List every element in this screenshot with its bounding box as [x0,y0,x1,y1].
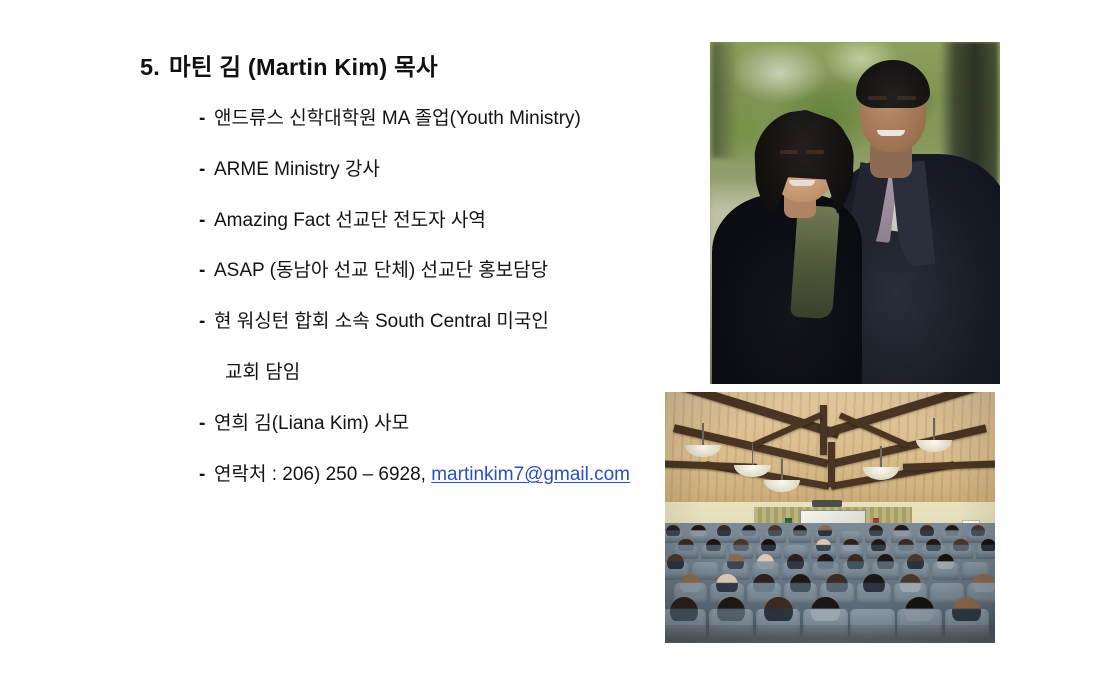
audience-member [971,525,985,535]
audience-member [818,525,832,535]
list-item-label: 앤드류스 신학대학원 MA 졸업(Youth Ministry) [214,108,581,129]
tree-trunk-left [712,42,738,158]
slide-title-text: 마틴 김 (Martin Kim) 목사 [169,54,438,80]
audience-member [768,525,782,535]
list-item: -현 워싱턴 합회 소속 South Central 미국인 [199,311,549,333]
audience-member [787,554,804,569]
bullet-dash: - [199,260,214,282]
audience-member [863,574,885,593]
bullet-dash: - [199,464,214,486]
audience-member [733,539,749,551]
list-item-label: Amazing Fact 선교단 전도자 사역 [214,210,486,231]
list-item-label: ASAP (동남아 선교 단체) 선교단 홍보담당 [214,260,548,281]
audience-member [691,525,705,535]
church-sanctuary-photo [665,392,995,643]
floor [665,625,995,643]
email-link[interactable]: martinkim7@gmail.com [431,464,630,485]
audience-member [667,554,684,569]
projector [812,500,842,508]
list-item-label: 현 워싱턴 합회 소속 South Central 미국인 [214,311,549,332]
list-item-label: 교회 담임 [225,362,300,383]
man-eyes [868,96,916,100]
list-item: -연락처 : 206) 250 – 6928, martinkim7@gmail… [199,464,630,486]
audience-member [905,597,934,621]
list-item-label: 연희 김(Liana Kim) 사모 [214,413,409,434]
bullet-dash: - [199,413,214,435]
audience-member [764,597,793,621]
bullet-dash: - [199,108,214,130]
audience-member [894,525,908,535]
audience-member [811,597,840,621]
list-item: -연희 김(Liana Kim) 사모 [199,413,409,435]
audience-member [920,525,934,535]
audience-member [706,539,722,551]
list-item: -Amazing Fact 선교단 전도자 사역 [199,210,486,232]
audience-member [742,525,756,535]
list-item: -ARME Ministry 강사 [199,159,380,181]
roof-king-post [828,442,835,487]
audience-member [716,574,738,593]
audience-member [826,574,848,593]
slide-text-column: 5.마틴 김 (Martin Kim) 목사 -앤드류스 신학대학원 MA 졸업… [0,0,690,674]
man-smile [877,130,905,136]
audience-member [793,525,807,535]
woman-eyes [780,150,824,154]
audience-member [869,525,883,535]
audience-member [666,525,680,535]
audience-member [678,539,694,551]
audience-member [843,539,859,551]
audience-member [907,554,924,569]
bullet-dash: - [199,159,214,181]
woman-coat [712,194,862,384]
audience-member [816,539,832,551]
audience-member [847,554,864,569]
woman-smile [789,180,815,186]
audience-member [973,574,995,593]
roof-king-post [820,405,827,455]
audience-member [926,539,942,551]
audience-member [953,539,969,551]
bullet-dash: - [199,311,214,333]
audience-member [761,539,777,551]
audience-member [952,597,981,621]
list-item-continuation: 교회 담임 [225,362,300,384]
audience-member [717,525,731,535]
couple-portrait-photo [710,42,1000,384]
audience-member [877,554,894,569]
woman-scarf [790,205,840,320]
list-item-label: 연락처 : 206) 250 – 6928, [214,464,431,485]
audience-member [981,539,995,551]
audience-member [727,554,744,569]
list-item: -앤드류스 신학대학원 MA 졸업(Youth Ministry) [199,108,581,130]
audience-member [753,574,775,593]
list-item-label: ARME Ministry 강사 [214,159,380,180]
audience-member [898,539,914,551]
page-title: 5.마틴 김 (Martin Kim) 목사 [140,48,438,82]
audience-member [945,525,959,535]
audience-member [817,554,834,569]
audience-member [757,554,774,569]
audience-member [937,554,954,569]
bullet-dash: - [199,210,214,232]
slide-number: 5. [140,54,160,80]
audience-member [871,539,887,551]
list-item: -ASAP (동남아 선교 단체) 선교단 홍보담당 [199,260,548,282]
